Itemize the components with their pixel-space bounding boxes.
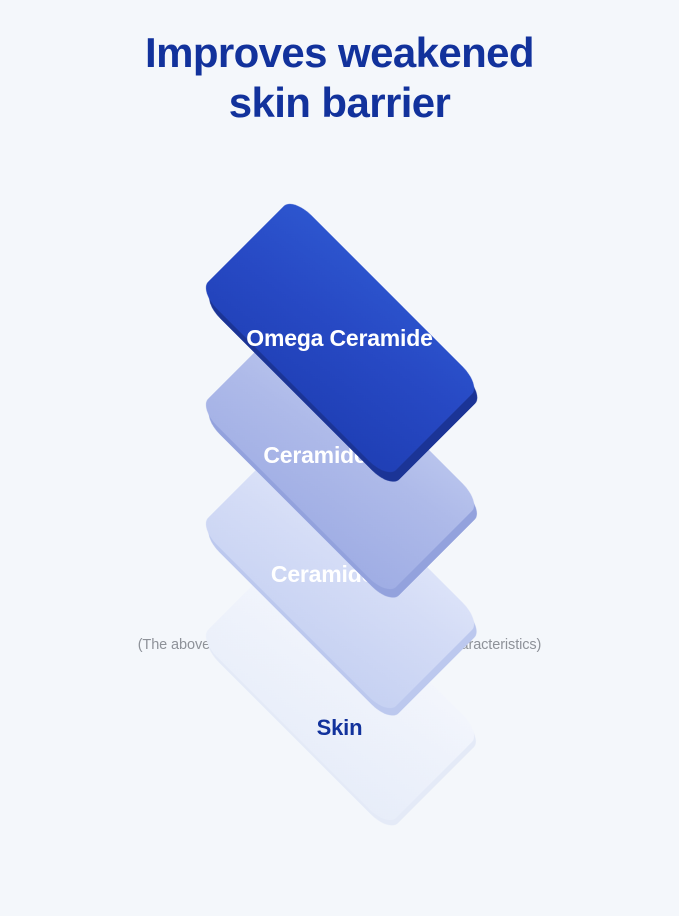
poster-canvas: Improves weakened skin barrier Omega Cer… (0, 0, 679, 679)
diagram-layer-omega-ceramide: Omega Ceramide (152, 150, 528, 526)
layer-stack-diagram: Omega Ceramide Ceramide 5SP Ceramide 9S … (0, 150, 679, 600)
page-title: Improves weakened skin barrier (0, 28, 679, 128)
page-title-line-1: Improves weakened (0, 28, 679, 78)
page-title-line-2: skin barrier (0, 78, 679, 128)
